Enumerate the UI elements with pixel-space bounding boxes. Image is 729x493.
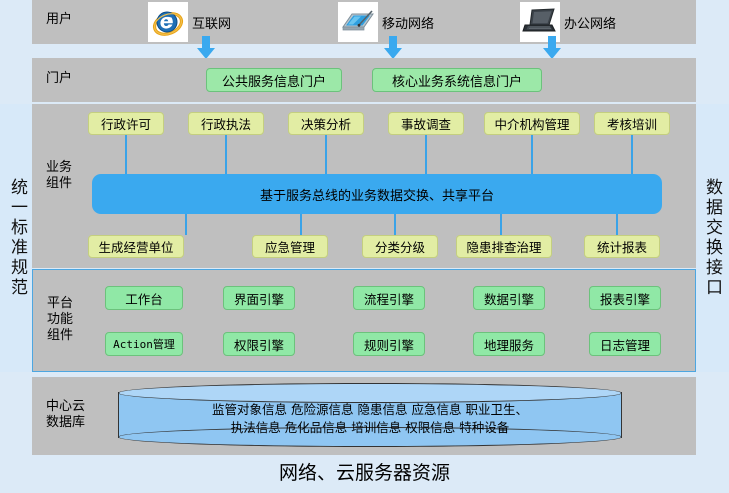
- user-office-label: 办公网络: [564, 13, 616, 32]
- cylinder-top-ellipse: [118, 383, 622, 403]
- left-vertical-band: 统一标准规范: [0, 104, 34, 372]
- platform-box-process-engine[interactable]: 流程引擎: [353, 286, 425, 310]
- business-box-emergency-management[interactable]: 应急管理: [252, 235, 328, 258]
- business-box-statistical-reports[interactable]: 统计报表: [584, 235, 660, 258]
- portal-row-label: 门户: [46, 71, 104, 87]
- connector-top-1: [125, 135, 127, 174]
- business-row-label-line1: 业务: [46, 160, 104, 176]
- internet-explorer-icon: [148, 2, 188, 42]
- business-box-administrative-license[interactable]: 行政许可: [88, 112, 164, 135]
- connector-bottom-4: [500, 214, 502, 235]
- business-box-accident-investigation[interactable]: 事故调查: [388, 112, 464, 135]
- left-band-label: 统一标准规范: [7, 178, 27, 298]
- platform-box-permission-engine[interactable]: 权限引擎: [223, 332, 295, 356]
- platform-row-label-line1: 平台: [47, 296, 105, 312]
- portal-box-core-business[interactable]: 核心业务系统信息门户: [372, 68, 542, 92]
- right-band-label: 数据交换接口: [702, 178, 722, 298]
- platform-box-data-engine[interactable]: 数据引擎: [473, 286, 545, 310]
- platform-box-rule-engine[interactable]: 规则引擎: [353, 332, 425, 356]
- user-mobile-label: 移动网络: [382, 13, 434, 32]
- user-internet-label: 互联网: [192, 13, 231, 32]
- business-box-assessment-training[interactable]: 考核培训: [594, 112, 670, 135]
- database-panel: 中心云 数据库 监管对象信息 危险源信息 隐患信息 应急信息 职业卫生、 执法信…: [32, 377, 696, 455]
- arrow-office-to-portal: [542, 36, 562, 60]
- platform-box-geo-service[interactable]: 地理服务: [473, 332, 545, 356]
- connector-bottom-5: [616, 214, 618, 235]
- user-internet[interactable]: 互联网: [148, 2, 231, 42]
- business-box-administrative-enforcement[interactable]: 行政执法: [188, 112, 264, 135]
- business-box-decision-analysis[interactable]: 决策分析: [288, 112, 364, 135]
- connector-top-6: [631, 135, 633, 174]
- connector-bottom-3: [394, 214, 396, 235]
- business-box-production-unit[interactable]: 生成经营单位: [88, 235, 184, 258]
- connector-top-2: [225, 135, 227, 174]
- database-row-label: 中心云 数据库: [46, 399, 108, 431]
- footer-label: 网络、云服务器资源: [0, 458, 729, 485]
- connector-top-3: [325, 135, 327, 174]
- connector-bottom-1: [185, 214, 187, 235]
- database-row-label-line2: 数据库: [46, 415, 108, 431]
- platform-box-report-engine[interactable]: 报表引擎: [589, 286, 661, 310]
- arrow-mobile-to-portal: [383, 36, 403, 60]
- database-content-text: 监管对象信息 危险源信息 隐患信息 应急信息 职业卫生、 执法信息 危化品信息 …: [118, 401, 622, 437]
- platform-box-ui-engine[interactable]: 界面引擎: [223, 286, 295, 310]
- platform-row-label-line2: 功能: [47, 312, 105, 328]
- central-cloud-database-cylinder[interactable]: 监管对象信息 危险源信息 隐患信息 应急信息 职业卫生、 执法信息 危化品信息 …: [118, 383, 622, 447]
- platform-box-workbench[interactable]: 工作台: [105, 286, 183, 310]
- database-content-line1: 监管对象信息 危险源信息 隐患信息 应急信息 职业卫生、: [118, 401, 622, 419]
- platform-panel: 平台 功能 组件 工作台 界面引擎 流程引擎 数据引擎 报表引擎 Action管…: [32, 269, 696, 372]
- right-vertical-band: 数据交换接口: [695, 104, 729, 372]
- business-box-agency-management[interactable]: 中介机构管理: [484, 112, 580, 135]
- users-panel: 用户 互联网: [32, 0, 696, 44]
- business-box-hazard-investigation[interactable]: 隐患排查治理: [456, 235, 552, 258]
- business-box-classification-grading[interactable]: 分类分级: [362, 235, 438, 258]
- portal-panel: 门户 公共服务信息门户 核心业务系统信息门户: [32, 58, 696, 102]
- database-content-line2: 执法信息 危化品信息 培训信息 权限信息 特种设备: [118, 419, 622, 437]
- portal-box-public-service[interactable]: 公共服务信息门户: [206, 68, 342, 92]
- database-row-label-line1: 中心云: [46, 399, 108, 415]
- connector-top-5: [531, 135, 533, 174]
- business-panel: 业务 组件 行政许可 行政执法 决策分析 事故调查 中介机构管理 考核培训 基于…: [32, 104, 696, 268]
- connector-bottom-2: [300, 214, 302, 235]
- platform-row-label-line3: 组件: [47, 328, 105, 344]
- user-office[interactable]: 办公网络: [520, 2, 616, 42]
- tablet-stylus-icon: [338, 2, 378, 42]
- diagram-root: 统一标准规范 数据交换接口 用户 互联网: [0, 0, 729, 493]
- connector-top-4: [425, 135, 427, 174]
- platform-row-label: 平台 功能 组件: [47, 296, 105, 344]
- platform-box-log-management[interactable]: 日志管理: [589, 332, 661, 356]
- platform-box-action-management[interactable]: Action管理: [105, 332, 183, 356]
- arrow-internet-to-portal: [196, 36, 216, 60]
- service-bus-bar[interactable]: 基于服务总线的业务数据交换、共享平台: [92, 174, 662, 214]
- users-row-label: 用户: [46, 12, 104, 28]
